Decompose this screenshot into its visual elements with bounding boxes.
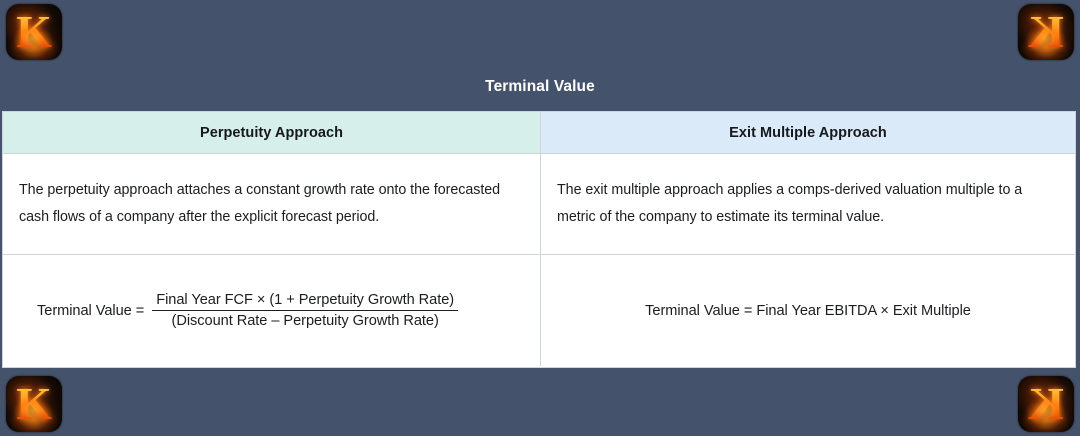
fraction-denominator: (Discount Rate – Perpetuity Growth Rate) [168, 311, 443, 329]
table-row-description: The perpetuity approach attaches a const… [3, 154, 1075, 255]
column-header-label: Exit Multiple Approach [729, 125, 887, 141]
cell-perpetuity-formula: Terminal Value = Final Year FCF × (1 + P… [3, 255, 541, 366]
terminal-value-comparison-table: Perpetuity Approach Exit Multiple Approa… [2, 111, 1076, 368]
page-title-band: Terminal Value [0, 64, 1080, 110]
exit-multiple-formula: Terminal Value = Final Year EBITDA × Exi… [645, 303, 971, 319]
logo-letter: K [6, 376, 62, 432]
flaming-k-logo-icon: K [6, 4, 62, 60]
table-header-exit-multiple: Exit Multiple Approach [541, 112, 1075, 153]
column-header-label: Perpetuity Approach [200, 125, 343, 141]
logo-letter: K [1018, 4, 1074, 60]
description-text: The exit multiple approach applies a com… [557, 177, 1059, 230]
flaming-k-logo-icon: K [1018, 376, 1074, 432]
description-text: The perpetuity approach attaches a const… [19, 177, 524, 230]
flaming-k-logo-icon: K [6, 376, 62, 432]
cell-perpetuity-description: The perpetuity approach attaches a const… [3, 154, 541, 254]
flaming-k-logo-icon: K [1018, 4, 1074, 60]
logo-letter: K [1018, 376, 1074, 432]
logo-letter: K [6, 4, 62, 60]
table-header-row: Perpetuity Approach Exit Multiple Approa… [3, 112, 1075, 154]
fraction-numerator: Final Year FCF × (1 + Perpetuity Growth … [152, 292, 458, 310]
table-row-formula: Terminal Value = Final Year FCF × (1 + P… [3, 255, 1075, 366]
perpetuity-formula: Terminal Value = Final Year FCF × (1 + P… [37, 292, 458, 330]
cell-exit-multiple-description: The exit multiple approach applies a com… [541, 154, 1075, 254]
table-header-perpetuity: Perpetuity Approach [3, 112, 541, 153]
formula-fraction: Final Year FCF × (1 + Perpetuity Growth … [152, 292, 458, 330]
cell-exit-multiple-formula: Terminal Value = Final Year EBITDA × Exi… [541, 255, 1075, 366]
page-title: Terminal Value [485, 78, 595, 96]
formula-left-hand-side: Terminal Value = [37, 303, 144, 319]
